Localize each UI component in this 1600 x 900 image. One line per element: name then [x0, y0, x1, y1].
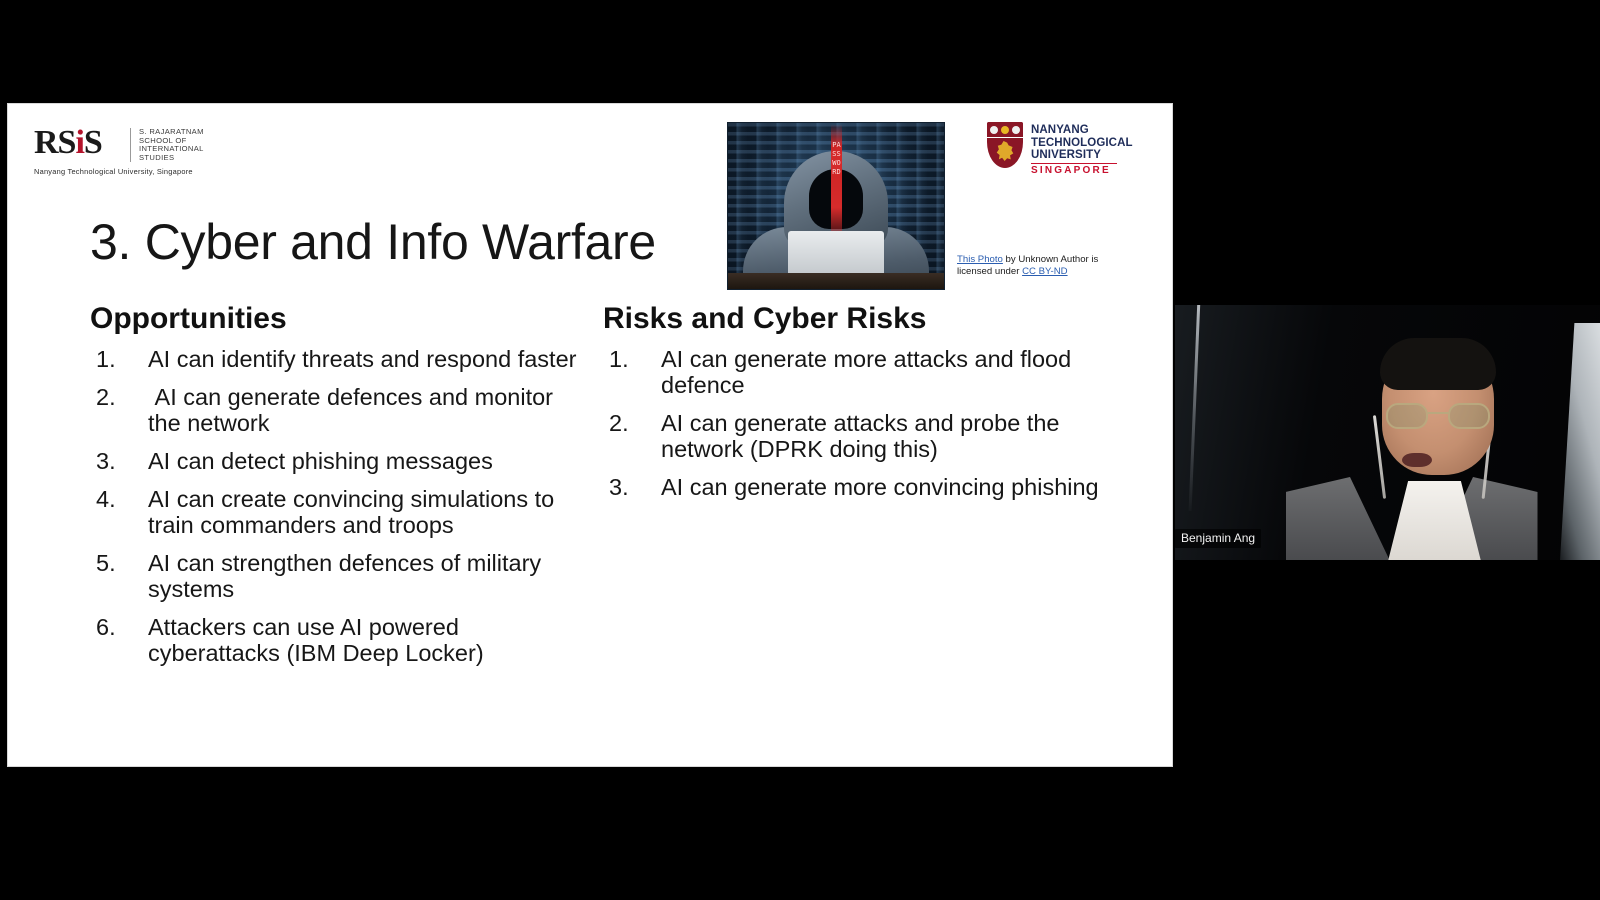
column-opportunities: Opportunities AI can identify threats an… — [90, 300, 590, 678]
glasses-lens-left — [1386, 403, 1428, 429]
participant-hair — [1380, 338, 1496, 390]
list-item: AI can detect phishing messages — [90, 448, 590, 474]
rsis-tagline: Nanyang Technological University, Singap… — [34, 167, 193, 176]
rsis-wordmark-i: i — [75, 124, 83, 161]
rsis-wordmark-text: RSiS — [34, 126, 102, 160]
column-heading-risks: Risks and Cyber Risks — [603, 300, 1103, 338]
meeting-stage: RSiS S. RAJARATNAM SCHOOL OF INTERNATION… — [0, 0, 1600, 900]
list-item: AI can create convincing simulations to … — [90, 486, 590, 538]
list-item: AI can generate attacks and probe the ne… — [603, 410, 1103, 462]
ntu-lion-icon — [996, 141, 1014, 161]
ntu-rosette — [990, 126, 998, 134]
shared-slide[interactable]: RSiS S. RAJARATNAM SCHOOL OF INTERNATION… — [8, 104, 1172, 766]
ntu-rosette — [1012, 126, 1020, 134]
participant-name-label: Benjamin Ang — [1175, 529, 1261, 548]
rsis-wordmark-s: S — [84, 124, 102, 161]
rsis-logo: RSiS S. RAJARATNAM SCHOOL OF INTERNATION… — [34, 126, 234, 182]
photo-password-stream: PASSWORD — [831, 125, 842, 243]
photo-attribution: This Photo by Unknown Author is licensed… — [957, 254, 1125, 279]
participant-mouth — [1402, 453, 1432, 467]
participant-glasses — [1386, 403, 1490, 429]
list-item: AI can generate more attacks and flood d… — [603, 346, 1103, 398]
list-item: Attackers can use AI powered cyberattack… — [90, 614, 590, 666]
this-photo-link[interactable]: This Photo — [957, 254, 1003, 265]
risks-list: AI can generate more attacks and flood d… — [603, 346, 1103, 500]
opportunities-list: AI can identify threats and respond fast… — [90, 346, 590, 666]
list-item: AI can generate more convincing phishing — [603, 474, 1103, 500]
ntu-crest-icon — [987, 122, 1023, 168]
list-item: AI can identify threats and respond fast… — [90, 346, 590, 372]
ntu-rosette — [1001, 126, 1009, 134]
slide-title: 3. Cyber and Info Warfare — [90, 213, 656, 271]
column-risks: Risks and Cyber Risks AI can generate mo… — [603, 300, 1103, 512]
hacker-photo: PASSWORD — [727, 122, 945, 290]
cc-license-link[interactable]: CC BY-ND — [1022, 266, 1068, 277]
list-item: AI can strengthen defences of military s… — [90, 550, 590, 602]
rsis-logo-divider — [130, 128, 131, 162]
list-item: AI can generate defences and monitor the… — [90, 384, 590, 436]
glasses-lens-right — [1448, 403, 1490, 429]
photo-desk — [728, 273, 944, 289]
glasses-bridge — [1428, 412, 1448, 414]
ntu-shield — [987, 122, 1023, 168]
ntu-wordmark: NANYANG TECHNOLOGICAL UNIVERSITY — [1031, 124, 1133, 162]
column-heading-opportunities: Opportunities — [90, 300, 590, 338]
ntu-logo: NANYANG TECHNOLOGICAL UNIVERSITY SINGAPO… — [983, 122, 1141, 176]
rsis-subtitle: S. RAJARATNAM SCHOOL OF INTERNATIONAL ST… — [139, 128, 204, 162]
participant-video-tile[interactable]: Benjamin Ang — [1175, 305, 1600, 560]
rsis-wordmark-rs: RS — [34, 124, 75, 161]
ntu-country-label: SINGAPORE — [1031, 165, 1111, 176]
ntu-divider-rule — [1031, 163, 1117, 164]
